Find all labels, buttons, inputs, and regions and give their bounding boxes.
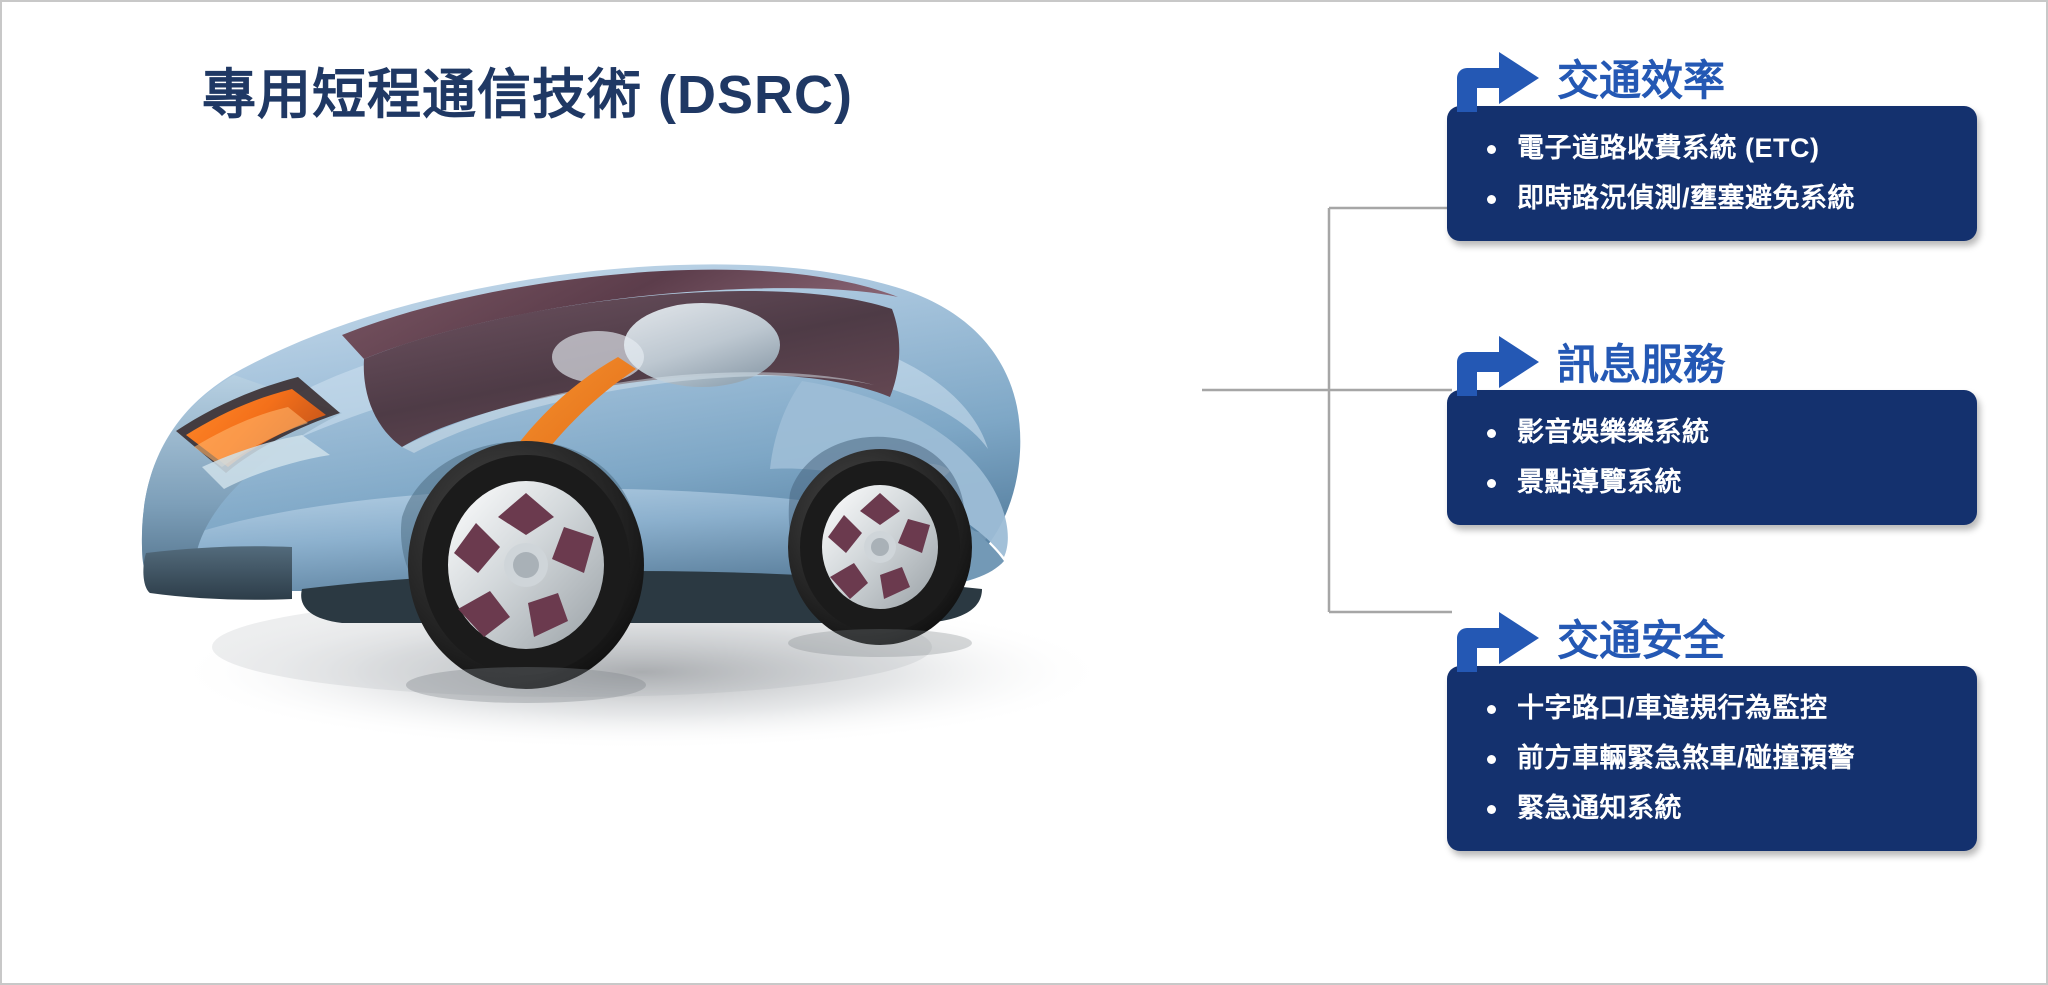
branch-panel: 電子道路收費系統 (ETC) 即時路況偵測/壅塞避免系統	[1447, 106, 1977, 241]
branch-panel: 十字路口/車違規行為監控 前方車輛緊急煞車/碰撞預警 緊急通知系統	[1447, 666, 1977, 851]
list-item: 十字路口/車違規行為監控	[1481, 692, 1947, 725]
branch-header: 訊息服務	[1451, 334, 1977, 396]
list-item: 緊急通知系統	[1481, 792, 1947, 825]
list-item: 前方車輛緊急煞車/碰撞預警	[1481, 742, 1947, 775]
bent-right-arrow-icon	[1451, 334, 1543, 396]
branch-item-list: 電子道路收費系統 (ETC) 即時路況偵測/壅塞避免系統	[1481, 132, 1947, 215]
branch-traffic-safety[interactable]: 交通安全 十字路口/車違規行為監控 前方車輛緊急煞車/碰撞預警 緊急通知系統	[1447, 610, 1977, 851]
branch-information-service[interactable]: 訊息服務 影音娛樂樂系統 景點導覽系統	[1447, 334, 1977, 525]
page-title: 專用短程通信技術 (DSRC)	[202, 50, 853, 129]
list-item: 影音娛樂樂系統	[1481, 416, 1947, 449]
branch-heading-label: 訊息服務	[1557, 344, 1725, 386]
bent-right-arrow-icon	[1451, 610, 1543, 672]
branch-panel: 影音娛樂樂系統 景點導覽系統	[1447, 390, 1977, 525]
bent-right-arrow-icon	[1451, 50, 1543, 112]
branch-item-list: 影音娛樂樂系統 景點導覽系統	[1481, 416, 1947, 499]
branch-heading-label: 交通安全	[1557, 620, 1725, 662]
slide-canvas: 專用短程通信技術 (DSRC)	[0, 0, 2048, 985]
branch-header: 交通安全	[1451, 610, 1977, 672]
list-item: 電子道路收費系統 (ETC)	[1481, 132, 1947, 165]
branch-heading-label: 交通效率	[1557, 60, 1725, 102]
list-item: 景點導覽系統	[1481, 466, 1947, 499]
branch-traffic-efficiency[interactable]: 交通效率 電子道路收費系統 (ETC) 即時路況偵測/壅塞避免系統	[1447, 50, 1977, 241]
list-item: 即時路況偵測/壅塞避免系統	[1481, 182, 1947, 215]
branch-header: 交通效率	[1451, 50, 1977, 112]
branch-item-list: 十字路口/車違規行為監控 前方車輛緊急煞車/碰撞預警 緊急通知系統	[1481, 692, 1947, 825]
concept-car-illustration	[102, 217, 1282, 777]
